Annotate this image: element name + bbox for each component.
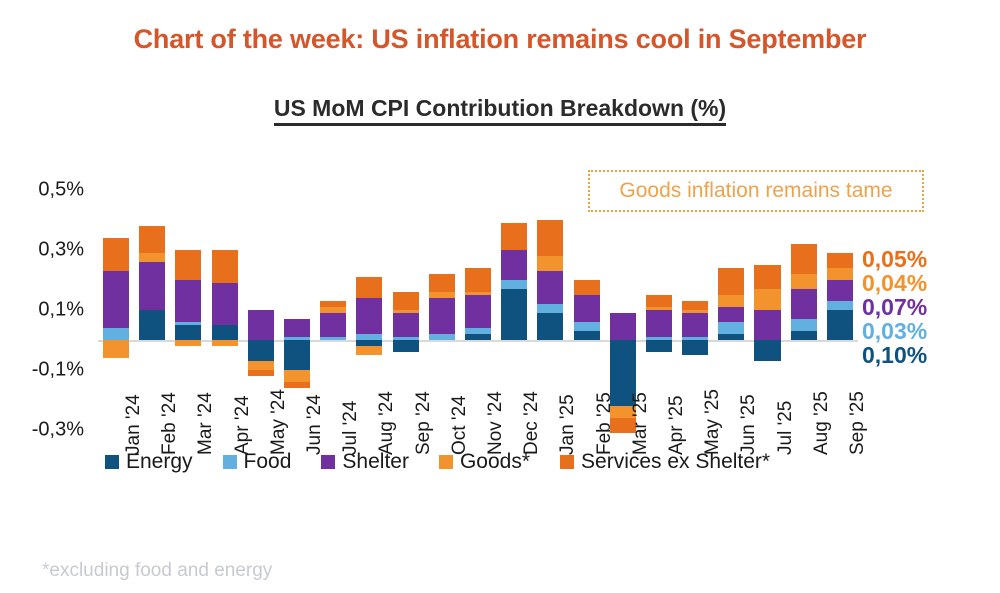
bar-segment: [718, 295, 744, 307]
bar-segment: [682, 310, 708, 313]
legend-item[interactable]: Goods*: [439, 450, 530, 474]
bar-segment: [356, 346, 382, 355]
contribution-value-label: 0,10%: [862, 343, 927, 367]
legend-swatch-icon: [321, 455, 335, 469]
chart-title: US MoM CPI Contribution Breakdown (%): [0, 95, 1000, 122]
bar-segment: [718, 307, 744, 322]
chart-page: Chart of the week: US inflation remains …: [0, 0, 1000, 593]
x-axis-tick-label: Oct '24: [449, 395, 471, 455]
bar-segment: [718, 334, 744, 340]
legend-swatch-icon: [439, 455, 453, 469]
bar-segment: [754, 310, 780, 340]
x-axis-tick-label: May '24: [268, 389, 290, 455]
bar-segment: [320, 307, 346, 313]
bar-segment: [212, 283, 238, 325]
bar-segment: [827, 301, 853, 310]
bar-segment: [103, 238, 129, 271]
x-axis-tick-label: Jun '24: [304, 394, 326, 455]
bar-segment: [429, 274, 455, 292]
bar-segment: [139, 226, 165, 253]
y-axis: 0,5%0,3%0,1%-0,1%-0,3%: [0, 175, 92, 445]
bar-segment: [320, 313, 346, 337]
bar-segment: [429, 298, 455, 334]
bar-segment: [718, 322, 744, 334]
legend-swatch-icon: [560, 455, 574, 469]
legend-swatch-icon: [105, 455, 119, 469]
bar-segment: [827, 268, 853, 280]
bar-segment: [827, 310, 853, 340]
bar-segment: [682, 313, 708, 337]
bar-segment: [284, 340, 310, 370]
bar-segment: [537, 304, 563, 313]
bar-segment: [320, 337, 346, 340]
bar-segment: [175, 322, 201, 325]
y-axis-tick-label: 0,3%: [38, 239, 84, 262]
bar-segment: [212, 250, 238, 283]
x-axis-tick-label: Dec '24: [521, 391, 543, 455]
bar-segment: [791, 274, 817, 289]
legend-item[interactable]: Energy: [105, 450, 193, 474]
footnote: *excluding food and energy: [42, 560, 272, 582]
x-axis-tick-label: Aug '25: [811, 391, 833, 455]
x-axis-tick-label: Mar '25: [630, 392, 652, 455]
bar-segment: [465, 295, 491, 328]
legend-swatch-icon: [223, 455, 237, 469]
contribution-value-label: 0,07%: [862, 295, 927, 319]
x-axis-tick-label: Apr '25: [666, 395, 688, 455]
bar-segment: [574, 295, 600, 322]
x-axis-tick-label: Mar '24: [195, 392, 217, 455]
legend-item[interactable]: Services ex Shelter*: [560, 450, 770, 474]
bar-segment: [574, 322, 600, 331]
bar-segment: [501, 223, 527, 250]
bar-segment: [791, 244, 817, 274]
bar-segment: [465, 334, 491, 340]
bar-segment: [537, 271, 563, 304]
bar-segment: [646, 310, 672, 337]
bar-segment: [646, 307, 672, 310]
bar-segment: [393, 310, 419, 313]
bar-segment: [827, 280, 853, 301]
page-headline: Chart of the week: US inflation remains …: [0, 24, 1000, 55]
x-axis-tick-label: Aug '24: [376, 391, 398, 455]
contribution-value-label: 0,04%: [862, 271, 927, 295]
contribution-value-label: 0,05%: [862, 247, 927, 271]
bar-segment: [175, 340, 201, 346]
bar-segment: [139, 253, 165, 262]
bar-segment: [537, 220, 563, 256]
bar-segment: [465, 328, 491, 334]
x-axis-tick-label: Feb '25: [594, 392, 616, 455]
bar-segment: [356, 277, 382, 298]
y-axis-tick-label: -0,3%: [32, 419, 84, 442]
bar-segment: [248, 310, 274, 340]
x-axis-tick-label: Sep '24: [413, 391, 435, 455]
bar-segment: [574, 331, 600, 340]
bar-segment: [682, 340, 708, 355]
legend-label: Energy: [126, 450, 193, 474]
x-axis-tick-label: Jan '25: [557, 394, 579, 455]
bar-segment: [248, 340, 274, 361]
bar-segment: [248, 370, 274, 376]
bar-segment: [320, 301, 346, 307]
bar-segment: [393, 292, 419, 310]
bar-segment: [175, 280, 201, 322]
bar-segment: [537, 256, 563, 271]
legend-item[interactable]: Shelter: [321, 450, 409, 474]
bar-segment: [682, 301, 708, 310]
legend-label: Goods*: [460, 450, 530, 474]
bar-segment: [356, 298, 382, 334]
x-axis-tick-label: Jul '25: [775, 401, 797, 455]
bar-segment: [284, 370, 310, 382]
chart-title-text: US MoM CPI Contribution Breakdown (%): [274, 95, 726, 126]
bar-segment: [537, 313, 563, 340]
bar-segment: [175, 325, 201, 340]
bar-segment: [501, 289, 527, 340]
bar-segment: [646, 340, 672, 352]
x-axis-tick-label: Sep '25: [847, 391, 869, 455]
bar-segment: [754, 340, 780, 361]
bar-segment: [501, 250, 527, 280]
bar-segment: [284, 382, 310, 388]
bar-segment: [212, 340, 238, 346]
bar-segment: [718, 268, 744, 295]
bar-segment: [574, 280, 600, 295]
bar-segment: [393, 340, 419, 352]
legend-label: Shelter: [342, 450, 409, 474]
bar-segment: [103, 328, 129, 340]
bar-segment: [827, 253, 853, 268]
x-axis-tick-label: Nov '24: [485, 391, 507, 455]
bar-segment: [791, 289, 817, 319]
contribution-value-label: 0,03%: [862, 319, 927, 343]
bar-segment: [393, 313, 419, 337]
bar-segment: [791, 319, 817, 331]
bar-segment: [284, 319, 310, 337]
bar-segment: [139, 310, 165, 340]
bar-segment: [610, 313, 636, 340]
bar-segment: [429, 334, 455, 340]
legend-item[interactable]: Food: [223, 450, 292, 474]
bar-segment: [646, 295, 672, 307]
x-axis-tick-label: Jun '25: [738, 394, 760, 455]
x-axis-tick-label: Feb '24: [159, 392, 181, 455]
legend-label: Food: [244, 450, 292, 474]
y-axis-tick-label: 0,1%: [38, 299, 84, 322]
bar-segment: [212, 325, 238, 340]
bar-segment: [103, 271, 129, 328]
bar-segment: [248, 361, 274, 370]
x-axis-tick-label: May '25: [702, 389, 724, 455]
y-axis-tick-label: 0,5%: [38, 179, 84, 202]
bar-segment: [791, 331, 817, 340]
x-axis-tick-label: Apr '24: [232, 395, 254, 455]
bar-segment: [501, 280, 527, 289]
bar-segment: [139, 262, 165, 310]
bar-segment: [754, 289, 780, 310]
bar-segment: [103, 340, 129, 358]
legend-label: Services ex Shelter*: [581, 450, 770, 474]
bar-segment: [429, 292, 455, 298]
x-axis-tick-label: Jan '24: [123, 394, 145, 455]
bar-segment: [465, 268, 491, 292]
bar-segment: [175, 250, 201, 280]
right-value-labels: 0,05%0,04%0,07%0,03%0,10%: [862, 247, 927, 367]
bar-segment: [465, 292, 491, 295]
bar-segment: [754, 265, 780, 289]
x-axis-tick-label: Jul '24: [340, 401, 362, 455]
chart-legend: EnergyFoodShelterGoods*Services ex Shelt…: [105, 450, 770, 474]
y-axis-tick-label: -0,1%: [32, 359, 84, 382]
